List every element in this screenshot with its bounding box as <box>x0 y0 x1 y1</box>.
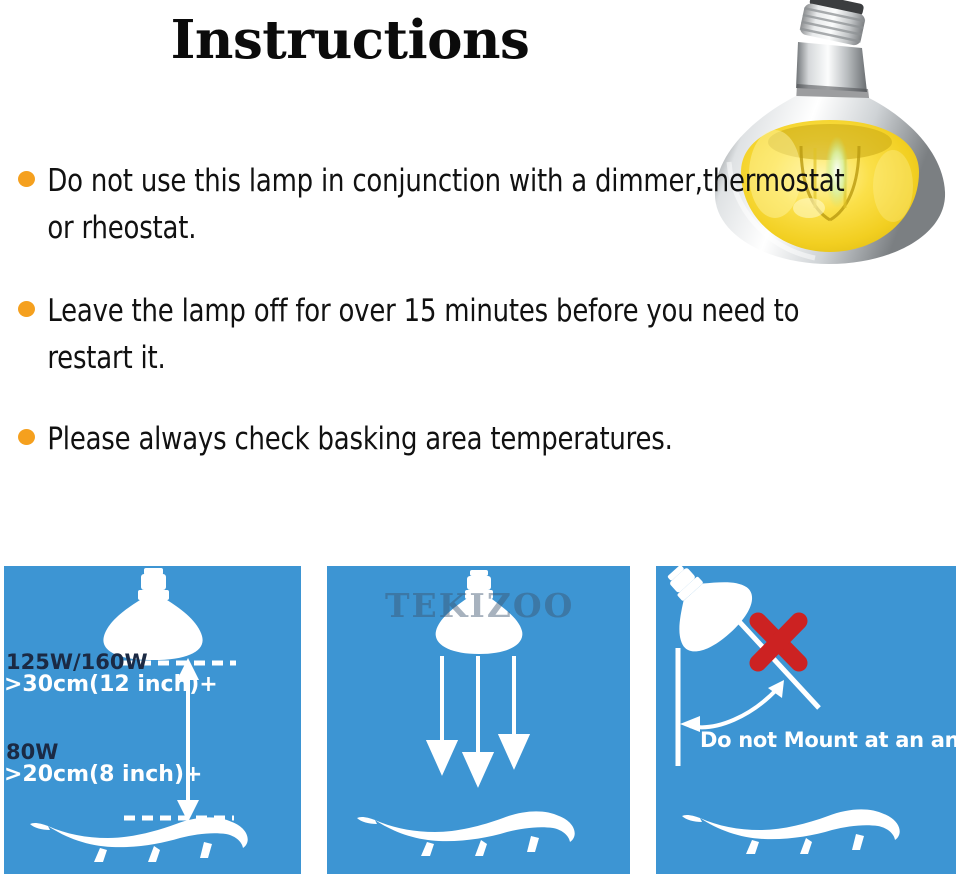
mounting-distance-panel <box>4 566 301 874</box>
instruction-text: Leave the lamp off for over 15 minutes b… <box>12 288 877 382</box>
instruction-text: Do not use this lamp in conjunction with… <box>12 158 877 252</box>
list-item: Leave the lamp off for over 15 minutes b… <box>12 288 942 382</box>
diagram-panels <box>0 566 961 874</box>
page-title: Instructions <box>0 14 700 67</box>
no-angle-caption: Do not Mount at an angle <box>700 728 961 752</box>
heat-direction-panel <box>327 566 630 874</box>
instruction-text: Please always check basking area tempera… <box>12 416 877 463</box>
instructions-list: Do not use this lamp in conjunction with… <box>12 158 942 494</box>
wattage-high-label: 125W/160W <box>6 650 148 674</box>
distance-low-label: >20cm(8 inch)+ <box>4 762 202 787</box>
instructions-page: Instructions <box>0 0 961 874</box>
list-item: Please always check basking area tempera… <box>12 416 942 463</box>
distance-high-label: >30cm(12 inch)+ <box>4 672 218 697</box>
no-angle-mount-panel <box>656 566 956 874</box>
wattage-low-label: 80W <box>6 740 58 764</box>
list-item: Do not use this lamp in conjunction with… <box>12 158 942 252</box>
